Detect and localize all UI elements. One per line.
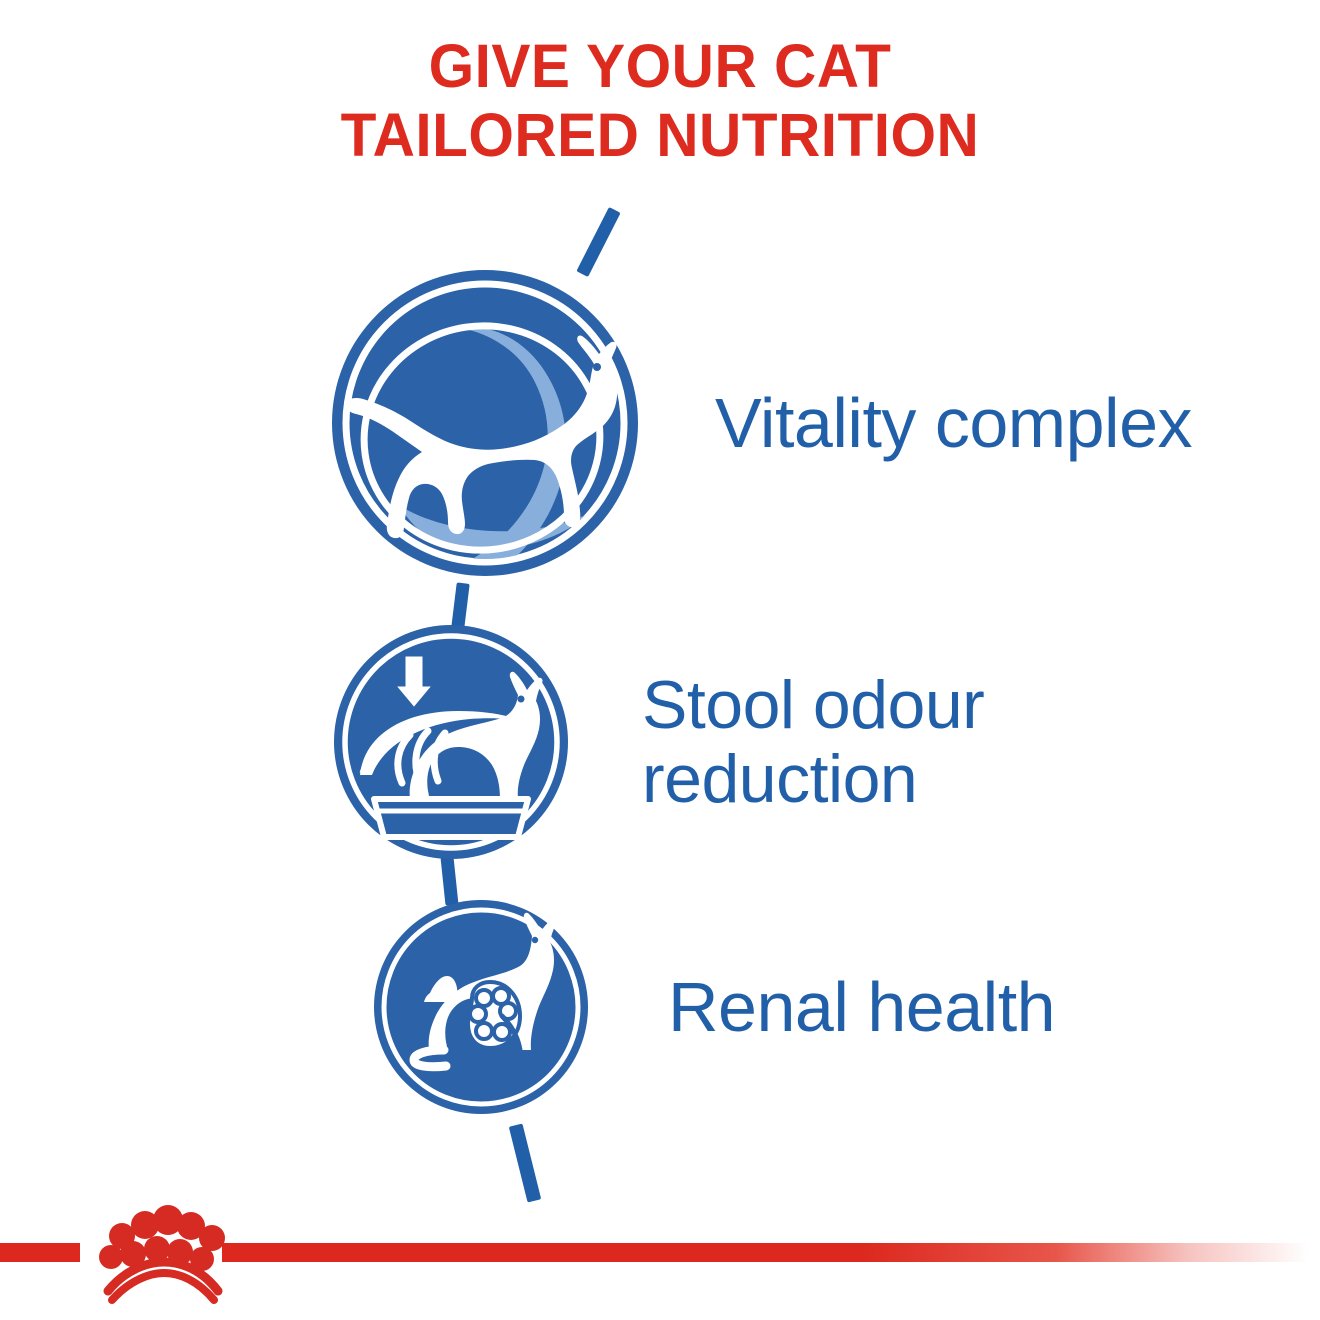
feature-label-stool-odour-reduction: Stool odour reduction xyxy=(642,668,984,816)
dash-between-first-and-second-icon xyxy=(451,582,469,628)
footer-rule-left xyxy=(0,1243,80,1262)
feature-icon-badge xyxy=(332,623,570,861)
feature-label-vitality-complex: Vitality complex xyxy=(715,386,1192,460)
feature-icon-badge xyxy=(330,268,640,578)
walking-cat-icon xyxy=(330,268,640,578)
dash-below-third-icon xyxy=(509,1123,541,1202)
feature-icon-badge xyxy=(372,898,590,1116)
royal-canin-crown-logo xyxy=(92,1205,232,1305)
feature-row-renal-health: Renal health xyxy=(372,898,1055,1116)
headline-line-2: TAILORED NUTRITION xyxy=(26,101,1293,170)
crown-icon xyxy=(92,1205,232,1305)
page-title: GIVE YOUR CAT TAILORED NUTRITION xyxy=(26,32,1293,170)
feature-label-renal-health: Renal health xyxy=(668,970,1055,1044)
infographic-canvas: GIVE YOUR CAT TAILORED NUTRITION xyxy=(0,0,1320,1320)
cat-litter-box-odour-icon xyxy=(332,623,570,861)
feature-row-stool-odour-reduction: Stool odour reduction xyxy=(332,623,984,861)
footer-rule-right xyxy=(222,1243,1320,1262)
cat-kidney-icon xyxy=(372,898,590,1116)
feature-row-vitality-complex: Vitality complex xyxy=(330,268,1192,578)
headline-line-1: GIVE YOUR CAT xyxy=(26,32,1293,101)
dash-above-first-icon xyxy=(576,207,620,277)
